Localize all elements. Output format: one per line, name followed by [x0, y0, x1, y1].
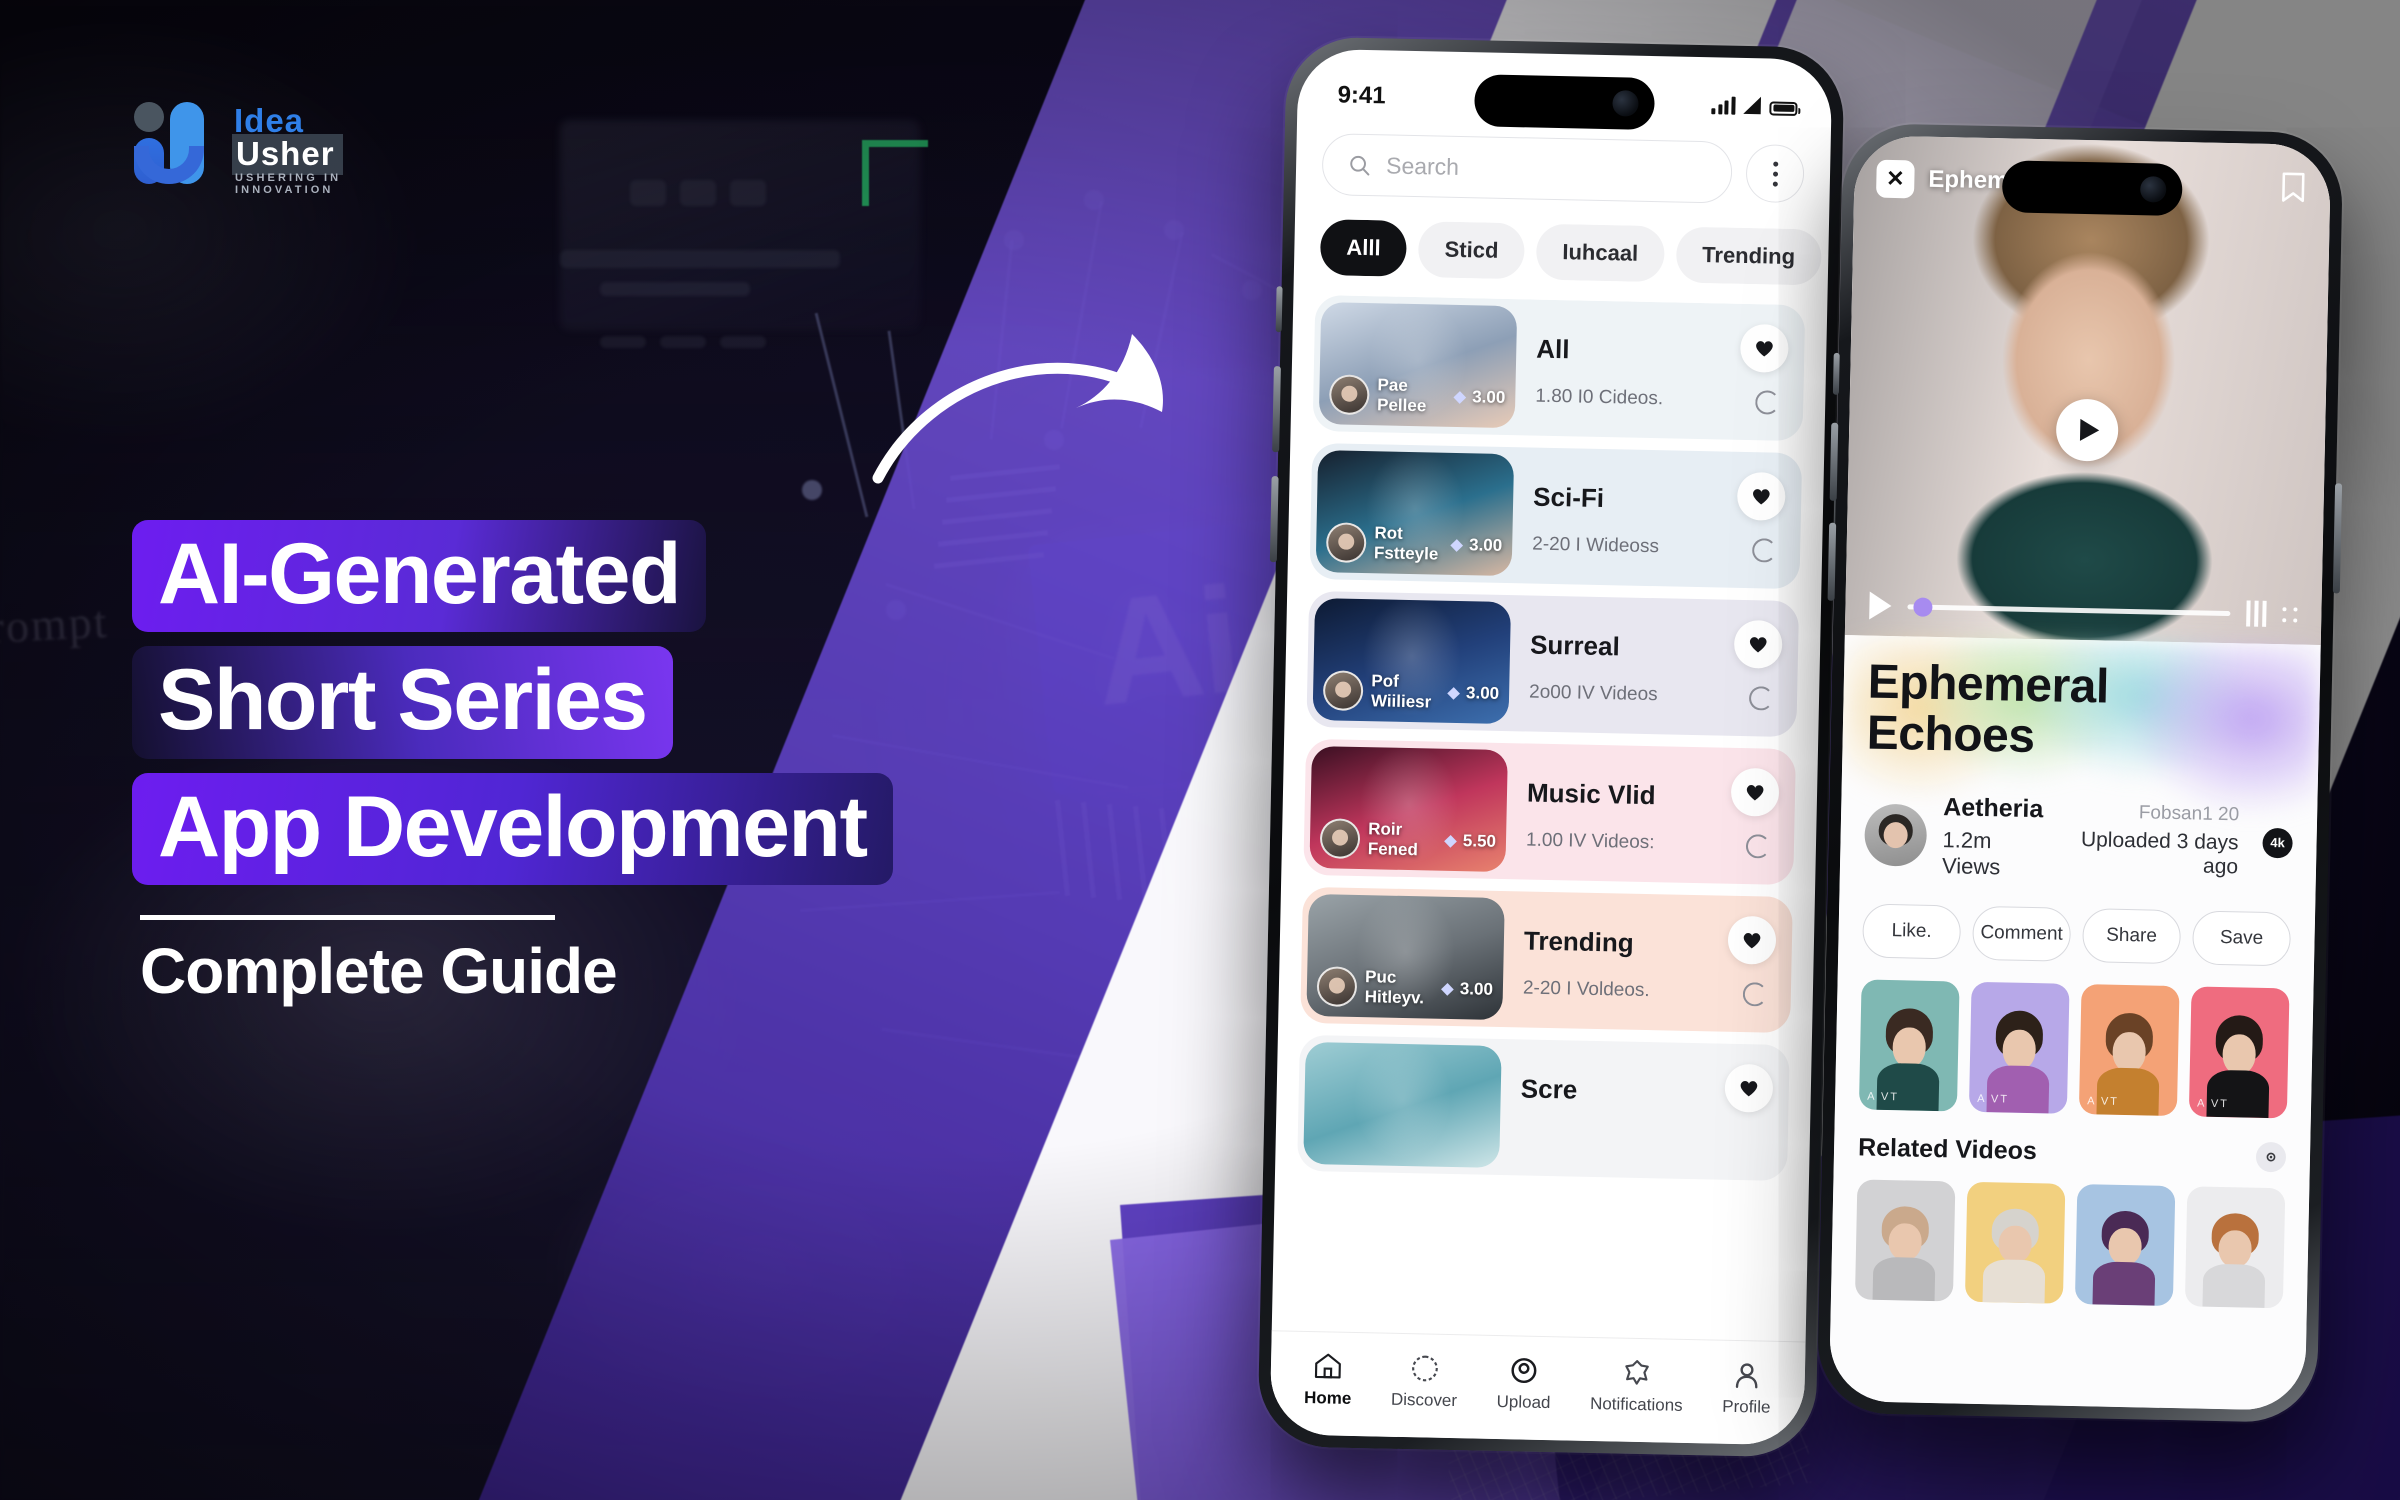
pause-icon[interactable]	[2246, 600, 2267, 626]
person-face	[2003, 1029, 2036, 1070]
wifi-icon: ◢	[1744, 93, 1761, 114]
thumbnail-meta: Pof Wiiliesr3.00	[1323, 670, 1500, 714]
filter-chip-label: Sticd	[1444, 237, 1498, 264]
phone1-volume-down[interactable]	[1270, 476, 1279, 562]
phone2-volume-up[interactable]	[1830, 423, 1839, 501]
close-icon[interactable]: ✕	[1876, 160, 1915, 199]
progress-handle[interactable]	[1913, 597, 1932, 616]
person-face	[2219, 1230, 2252, 1268]
headline-divider	[140, 915, 555, 920]
search-input[interactable]: Search	[1322, 133, 1733, 204]
phone1-category-list[interactable]: Pae Pellee3.00All1.80 I0 Cideos.Rot Fstt…	[1272, 295, 1828, 1350]
logo-dot	[134, 102, 164, 132]
card-body: Trending2-20 I Voldeos.	[1502, 891, 1793, 1033]
diamond-icon	[1441, 983, 1454, 996]
card-thumbnail: Pof Wiiliesr3.00	[1313, 598, 1512, 724]
kebab-dot	[1772, 181, 1777, 186]
card-thumbnail	[1303, 1042, 1502, 1168]
card-title: Music Vlid	[1527, 778, 1656, 812]
person-body	[2207, 1070, 2270, 1118]
person-body	[2093, 1261, 2156, 1305]
creator-avatar	[1323, 670, 1364, 711]
loading-spinner-icon	[1752, 538, 1776, 562]
status-time: 9:41	[1337, 81, 1386, 110]
upload-info: Fobsan1 20 Uploaded 3 days ago	[2060, 801, 2294, 881]
card-body: Surreal2o00 IV Videos	[1508, 595, 1799, 737]
headline-block: AI-Generated Short Series App Developmen…	[132, 520, 1252, 1008]
thumbnail-person	[2202, 1213, 2269, 1308]
phone2-volume-down[interactable]	[1828, 523, 1837, 601]
creator-name: Rot Fstteyle	[1374, 523, 1445, 564]
category-card[interactable]: Pof Wiiliesr3.00Surreal2o00 IV Videos	[1306, 591, 1799, 737]
creator-avatar	[1326, 522, 1367, 563]
favorite-icon[interactable]	[1727, 916, 1776, 965]
action-button-share[interactable]: Share	[2082, 908, 2181, 964]
video-action-buttons: Like.CommentShareSave	[1862, 903, 2291, 966]
loading-spinner-icon	[1749, 686, 1773, 710]
person-body	[1873, 1256, 1936, 1300]
filter-chip-label: Alll	[1346, 235, 1381, 262]
person-face	[2113, 1031, 2146, 1072]
more-options-icon[interactable]	[2282, 607, 2297, 622]
brand-logo[interactable]: Idea Usher USHERING IN INNOVATION	[128, 100, 368, 186]
phone1-dynamic-island	[1474, 74, 1655, 130]
curved-arrow-icon	[870, 300, 1230, 520]
phone2-silent-switch[interactable]	[1833, 353, 1840, 395]
card-rating: 3.00	[1472, 387, 1506, 408]
cellular-signal-icon	[1712, 96, 1736, 114]
thumbnail-meta: Roir Fened5.50	[1320, 818, 1497, 862]
phone1-bottom-nav: HomeDiscoverUploadNotificationsProfile	[1270, 1330, 1806, 1445]
card-thumbnail: Rot Fstteyle3.00	[1316, 450, 1515, 576]
headline-line-3: App Development	[132, 773, 893, 885]
thumbnail-badge: A VT	[1867, 1090, 1899, 1103]
action-button-comment[interactable]: Comment	[1972, 906, 2071, 962]
card-rating: 3.00	[1466, 683, 1500, 704]
logo-text-usher: Usher	[236, 135, 335, 172]
related-title: Related Videos	[1858, 1134, 2037, 1167]
nav-item-label: Notifications	[1590, 1394, 1683, 1416]
related-thumbnail-strip[interactable]	[1855, 1179, 2285, 1308]
person-body	[1987, 1065, 2050, 1113]
category-card[interactable]: Roir Fened5.50Music Vlid1.00 IV Videos:	[1303, 739, 1796, 885]
bookmark-icon[interactable]	[2278, 170, 2309, 205]
author-info: Aetheria 1.2m Views	[1942, 793, 2046, 881]
diamond-icon	[1453, 391, 1466, 404]
author-more-icon[interactable]: 4k	[2262, 828, 2293, 859]
nav-item-profile[interactable]: Profile	[1722, 1360, 1771, 1418]
diamond-icon	[1450, 539, 1463, 552]
card-thumbnail: Roir Fened5.50	[1309, 746, 1508, 872]
keyboard-row	[600, 336, 646, 348]
person-face	[2223, 1034, 2256, 1075]
episode-thumbnail[interactable]: A VT	[2079, 984, 2180, 1116]
thumbnail-overlay	[1303, 1042, 1502, 1168]
related-thumbnail[interactable]	[2185, 1186, 2285, 1308]
kebab-dot	[1773, 171, 1778, 176]
diamond-icon	[1447, 687, 1460, 700]
kebab-dot	[1773, 161, 1778, 166]
card-subtitle: 1.80 I0 Cideos.	[1535, 386, 1663, 411]
headline-line-2: Short Series	[132, 646, 673, 758]
filter-chip-label: Iuhcaal	[1562, 239, 1638, 267]
phone-mockup-home: 9:41 ◢ Search Al	[1257, 36, 1844, 1457]
filter-chip-1[interactable]: Sticd	[1418, 221, 1525, 279]
person-body	[2097, 1068, 2160, 1116]
thumbnail-badge: A VT	[1977, 1093, 2009, 1106]
home-icon	[1313, 1351, 1344, 1382]
person-face	[1893, 1027, 1926, 1068]
card-body: Scre	[1499, 1039, 1790, 1181]
circuit-node	[802, 480, 822, 500]
action-button-label: Comment	[1980, 922, 2063, 946]
thumbnail-meta: Puc Hitleyv.3.00	[1317, 966, 1494, 1010]
person-body	[1877, 1063, 1940, 1111]
creator-name: Pof Wiiliesr	[1371, 671, 1442, 712]
logo-tagline: USHERING IN INNOVATION	[235, 172, 368, 196]
thumbnail-person	[2092, 1211, 2159, 1306]
card-subtitle: 2-20 I Voldeos.	[1523, 977, 1650, 1002]
creator-name: Pae Pellee	[1377, 375, 1448, 416]
battery-icon	[1769, 101, 1797, 116]
nav-item-label: Discover	[1391, 1390, 1458, 1411]
headline-subtitle: Complete Guide	[132, 934, 1252, 1008]
card-body: Sci-Fi2-20 I Wideoss	[1511, 447, 1802, 589]
nav-item-home[interactable]: Home	[1304, 1351, 1352, 1409]
season-label: Fobsan1 20	[2061, 801, 2240, 827]
logo-mark-icon	[128, 100, 224, 180]
nav-item-discover[interactable]: Discover	[1391, 1353, 1458, 1411]
loading-spinner-icon	[1755, 390, 1779, 414]
card-subtitle: 1.00 IV Videos:	[1526, 830, 1655, 855]
favorite-icon[interactable]	[1724, 1064, 1773, 1113]
category-card[interactable]: Scre	[1297, 1035, 1790, 1181]
person-body	[1983, 1259, 2046, 1303]
thumbnail-badge: A VT	[2197, 1097, 2229, 1110]
phone1-volume-up[interactable]	[1272, 366, 1281, 452]
filter-chip-label: Trending	[1702, 242, 1795, 270]
phone1-filter-chips: AlllSticdIuhcaalTrending	[1294, 219, 1829, 286]
phone2-screen: ✕ Ephemeral Echoes Ephemeral Echoes	[1829, 135, 2331, 1411]
related-section-header: Related Videos	[1858, 1133, 2287, 1172]
filter-chip-2[interactable]: Iuhcaal	[1536, 224, 1665, 283]
favorite-icon[interactable]	[1734, 620, 1783, 669]
nav-item-notifications[interactable]: Notifications	[1590, 1357, 1684, 1416]
action-button-save[interactable]: Save	[2192, 910, 2291, 966]
logo-usher-highlight: Usher	[232, 134, 343, 175]
episode-thumbnail[interactable]: A VT	[1859, 979, 1960, 1111]
creator-avatar	[1329, 374, 1370, 415]
phone2-dynamic-island	[2002, 160, 2183, 216]
upload-date: Uploaded 3 days ago	[2060, 828, 2239, 880]
phone1-screen: 9:41 ◢ Search Al	[1270, 49, 1833, 1446]
card-title: Trending	[1524, 925, 1634, 958]
front-camera-icon	[1612, 90, 1639, 117]
action-button-label: Like.	[1891, 920, 1932, 943]
card-subtitle: 2o00 IV Videos	[1529, 682, 1658, 707]
filter-chip-3[interactable]: Trending	[1676, 227, 1822, 286]
status-indicators: ◢	[1712, 93, 1798, 116]
action-button-label: Share	[2106, 924, 2157, 947]
person-icon	[1732, 1360, 1763, 1391]
related-thumbnail[interactable]	[2075, 1184, 2175, 1306]
card-rating: 3.00	[1460, 979, 1494, 1000]
creator-avatar	[1317, 966, 1358, 1007]
creator-name: Puc Hitleyv.	[1365, 967, 1436, 1008]
bell-icon	[1622, 1358, 1653, 1389]
keyboard-row	[630, 180, 666, 206]
favorite-icon[interactable]	[1740, 324, 1789, 373]
card-title: Sci-Fi	[1533, 482, 1604, 514]
author-name: Aetheria	[1943, 793, 2045, 824]
card-rating: 5.50	[1463, 831, 1497, 852]
card-thumbnail: Pae Pellee3.00	[1319, 302, 1518, 428]
thumbnail-meta: Rot Fstteyle3.00	[1326, 522, 1503, 566]
category-card[interactable]: Rot Fstteyle3.00Sci-Fi2-20 I Wideoss	[1309, 443, 1802, 589]
search-icon	[1347, 152, 1373, 178]
thumbnail-meta: Pae Pellee3.00	[1329, 374, 1506, 418]
headline-line-1: AI-Generated	[132, 520, 706, 632]
phone1-silent-switch[interactable]	[1276, 286, 1283, 332]
loading-spinner-icon	[1743, 982, 1767, 1006]
action-button-label: Save	[2220, 927, 2264, 950]
compass-icon	[1409, 1353, 1440, 1384]
card-body: Music Vlid1.00 IV Videos:	[1505, 743, 1796, 885]
upload-icon	[1509, 1355, 1540, 1386]
card-thumbnail: Puc Hitleyv.3.00	[1306, 894, 1505, 1020]
creator-avatar	[1320, 818, 1361, 859]
keyboard-row	[600, 282, 750, 296]
author-row: Aetheria 1.2m Views Fobsan1 20 Uploaded …	[1864, 791, 2294, 886]
thumbnail-badge: A VT	[2087, 1095, 2119, 1108]
episode-thumbnail[interactable]: A VT	[1969, 982, 2070, 1114]
thumbnail-person	[1872, 1206, 1939, 1301]
category-card[interactable]: Pae Pellee3.00All1.80 I0 Cideos.	[1313, 295, 1806, 441]
person-face	[2109, 1228, 2142, 1266]
favorite-icon[interactable]	[1731, 768, 1780, 817]
creator-name: Roir Fened	[1368, 819, 1439, 860]
overflow-menu-button[interactable]	[1745, 144, 1804, 203]
filter-chip-0[interactable]: Alll	[1320, 219, 1407, 277]
card-title: Scre	[1521, 1073, 1578, 1105]
episode-thumbnail[interactable]: A VT	[2189, 986, 2290, 1118]
loading-spinner-icon	[1746, 834, 1770, 858]
related-thumbnail[interactable]	[1965, 1181, 2065, 1303]
person-body	[2203, 1263, 2266, 1307]
nav-item-label: Profile	[1722, 1397, 1771, 1418]
progress-slider[interactable]	[1907, 604, 2230, 616]
episode-thumbnail-strip[interactable]: A VTA VTA VTA VT	[1859, 979, 2290, 1118]
phone-mockup-detail: ✕ Ephemeral Echoes Ephemeral Echoes	[1817, 123, 2344, 1423]
action-button-like[interactable]: Like.	[1862, 903, 1961, 959]
search-placeholder: Search	[1386, 152, 1459, 181]
person-face	[1999, 1225, 2032, 1263]
play-icon[interactable]	[1869, 592, 1892, 620]
card-body: All1.80 I0 Cideos.	[1515, 299, 1806, 441]
category-card[interactable]: Puc Hitleyv.3.00Trending2-20 I Voldeos.	[1300, 887, 1793, 1033]
card-title: All	[1536, 334, 1570, 366]
card-title: Surreal	[1530, 630, 1620, 663]
video-detail-sheet: Ephemeral Echoes Aetheria 1.2m Views Fob…	[1829, 635, 2321, 1411]
related-thumbnail[interactable]	[1855, 1179, 1955, 1301]
diamond-icon	[1444, 835, 1457, 848]
card-rating: 3.00	[1469, 535, 1503, 556]
keyboard-row	[680, 180, 716, 206]
card-subtitle: 2-20 I Wideoss	[1532, 534, 1659, 559]
settings-icon[interactable]	[2256, 1142, 2287, 1173]
nav-item-label: Home	[1304, 1388, 1352, 1409]
keyboard-row	[660, 336, 706, 348]
author-avatar[interactable]	[1864, 803, 1927, 866]
thumbnail-person	[1982, 1208, 2049, 1303]
phone1-search-row: Search	[1296, 133, 1831, 206]
favorite-icon[interactable]	[1737, 472, 1786, 521]
nav-item-label: Upload	[1496, 1392, 1550, 1413]
author-views: 1.2m Views	[1942, 827, 2045, 881]
nav-item-upload[interactable]: Upload	[1496, 1355, 1551, 1413]
front-camera-icon	[2140, 176, 2167, 203]
person-face	[1889, 1223, 1922, 1261]
video-title: Ephemeral Echoes	[1866, 636, 2296, 769]
